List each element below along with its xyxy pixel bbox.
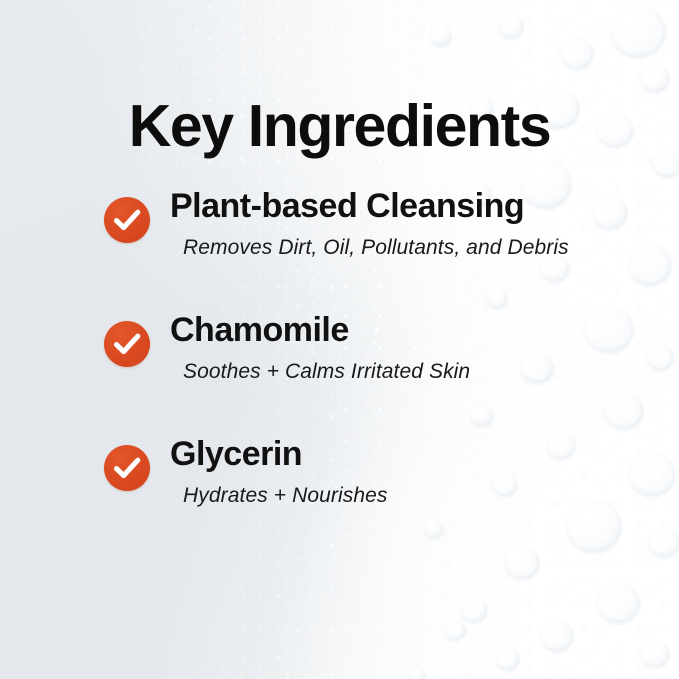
ingredient-description: Soothes + Calms Irritated Skin	[150, 359, 650, 384]
ingredient-list: Plant-based Cleansing Removes Dirt, Oil,…	[0, 186, 679, 558]
ingredient-name: Chamomile	[150, 310, 650, 350]
check-circle-icon	[104, 445, 150, 491]
list-item: Glycerin Hydrates + Nourishes	[0, 434, 679, 558]
ingredient-text-block: Glycerin Hydrates + Nourishes	[150, 434, 650, 508]
ingredient-description: Hydrates + Nourishes	[150, 483, 650, 508]
ingredient-name: Glycerin	[150, 434, 650, 474]
key-ingredients-infographic: Key Ingredients Plant-based Cleansing Re…	[0, 0, 679, 679]
ingredient-text-block: Plant-based Cleansing Removes Dirt, Oil,…	[150, 186, 650, 260]
ingredient-name: Plant-based Cleansing	[150, 186, 650, 226]
infographic-content: Key Ingredients Plant-based Cleansing Re…	[0, 0, 679, 679]
check-circle-icon	[104, 197, 150, 243]
list-item: Plant-based Cleansing Removes Dirt, Oil,…	[0, 186, 679, 310]
ingredient-description: Removes Dirt, Oil, Pollutants, and Debri…	[150, 235, 650, 260]
check-circle-icon	[104, 321, 150, 367]
ingredient-text-block: Chamomile Soothes + Calms Irritated Skin	[150, 310, 650, 384]
page-title: Key Ingredients	[0, 97, 679, 156]
list-item: Chamomile Soothes + Calms Irritated Skin	[0, 310, 679, 434]
